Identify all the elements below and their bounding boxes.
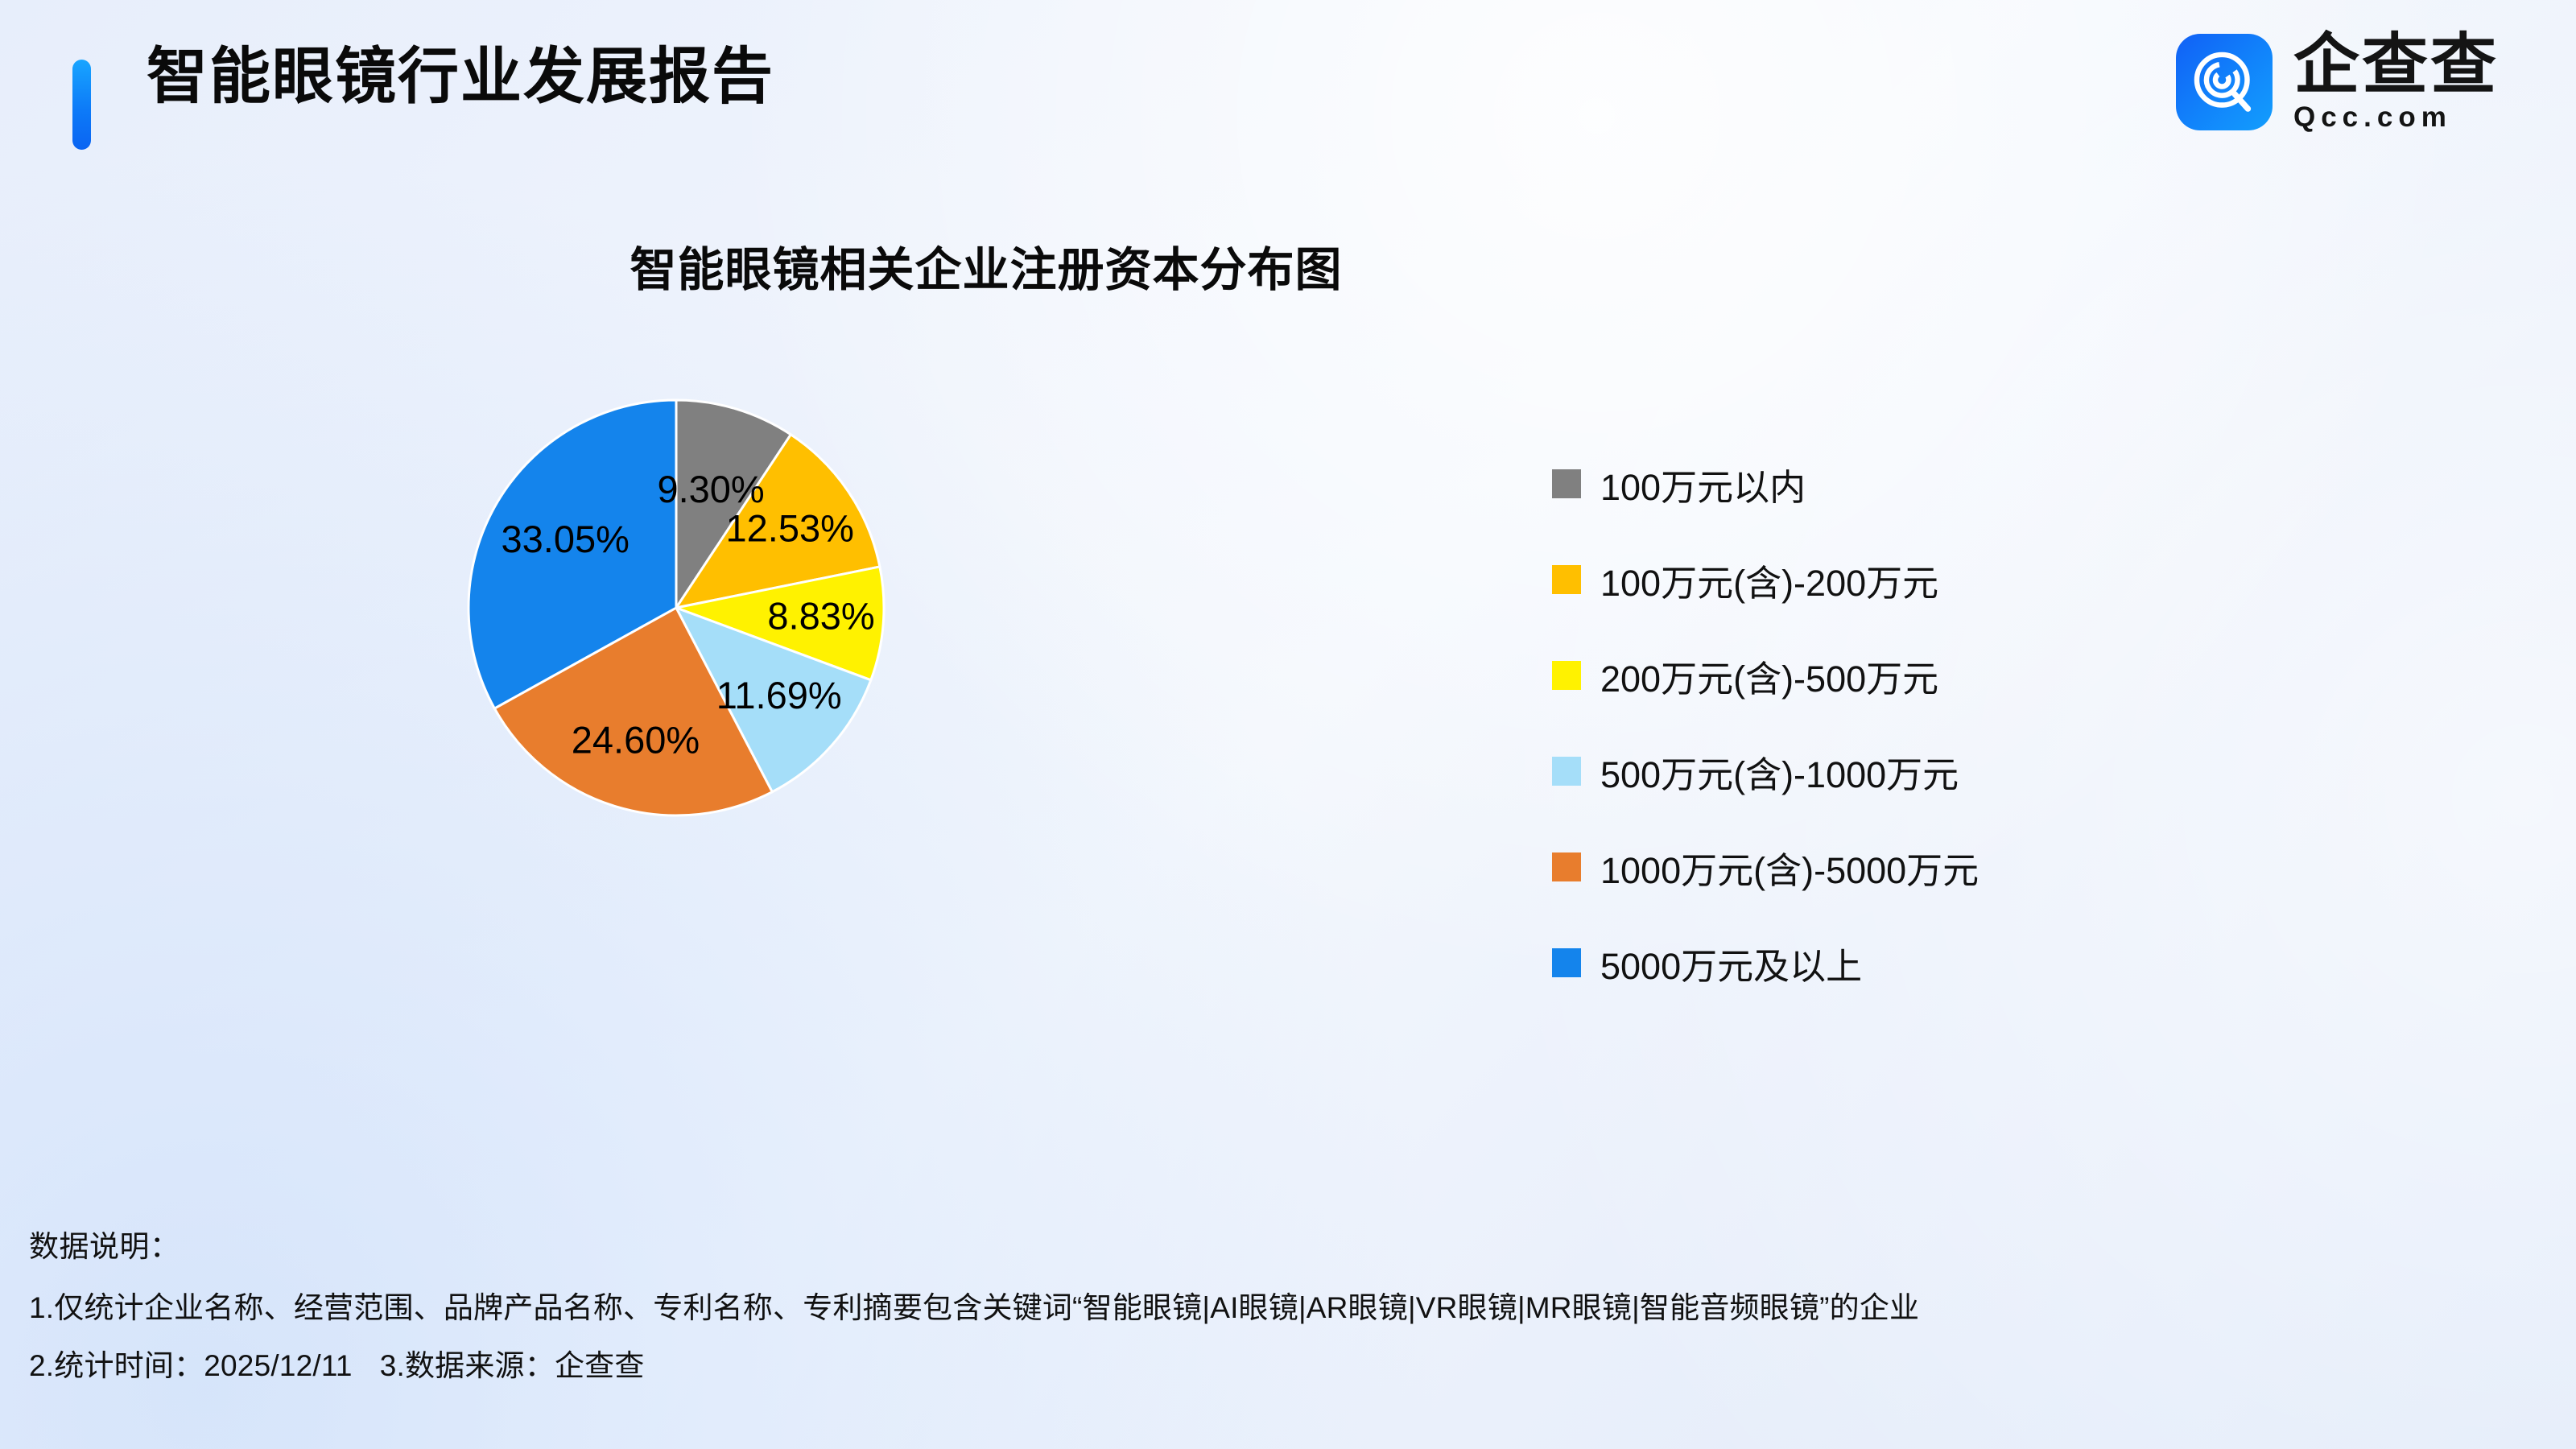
legend-label: 1000万元(含)-5000万元 <box>1600 841 1979 894</box>
legend-item[interactable]: 100万元以内 <box>1552 452 2438 515</box>
page-header: 智能眼镜行业发展报告 企查查 Qcc.com <box>0 0 2576 193</box>
chart-legend: 100万元以内100万元(含)-200万元200万元(含)-500万元500万元… <box>1552 452 2438 1027</box>
pie-slice-label: 12.53% <box>726 506 854 549</box>
brand-logo: 企查查 Qcc.com <box>2176 32 2499 131</box>
brand-name-cn: 企查查 <box>2293 32 2499 98</box>
legend-label: 500万元(含)-1000万元 <box>1600 745 1959 798</box>
pie-slice-label: 24.60% <box>572 718 700 761</box>
legend-item[interactable]: 1000万元(含)-5000万元 <box>1552 836 2438 898</box>
notes-line-1: 1.仅统计企业名称、经营范围、品牌产品名称、专利名称、专利摘要包含关键词“智能眼… <box>29 1283 2549 1327</box>
chart-title: 智能眼镜相关企业注册资本分布图 <box>0 232 1972 299</box>
pie-chart-svg: 9.30%12.53%8.83%11.69%24.60%33.05% <box>463 394 890 821</box>
brand-text: 企查查 Qcc.com <box>2293 32 2499 131</box>
legend-item[interactable]: 100万元(含)-200万元 <box>1552 548 2438 611</box>
qcc-logo-icon <box>2176 34 2273 130</box>
title-accent-bar <box>72 60 91 150</box>
notes-date: 2.统计时间：2025/12/11 <box>29 1349 353 1382</box>
legend-swatch-icon <box>1552 948 1581 977</box>
legend-label: 200万元(含)-500万元 <box>1600 650 1938 702</box>
pie-slice-label: 11.69% <box>716 674 842 716</box>
pie-slice-label: 9.30% <box>657 468 764 510</box>
legend-item[interactable]: 500万元(含)-1000万元 <box>1552 740 2438 803</box>
legend-swatch-icon <box>1552 757 1581 786</box>
legend-swatch-icon <box>1552 565 1581 594</box>
brand-name-en: Qcc.com <box>2293 103 2452 131</box>
legend-label: 5000万元及以上 <box>1600 937 1862 989</box>
legend-swatch-icon <box>1552 852 1581 881</box>
notes-line-2: 2.统计时间：2025/12/113.数据来源：企查查 <box>29 1341 2549 1385</box>
pie-chart: 9.30%12.53%8.83%11.69%24.60%33.05% <box>463 394 890 821</box>
data-notes: 数据说明： 1.仅统计企业名称、经营范围、品牌产品名称、专利名称、专利摘要包含关… <box>29 1222 2549 1399</box>
legend-item[interactable]: 200万元(含)-500万元 <box>1552 644 2438 707</box>
page-title: 智能眼镜行业发展报告 <box>147 39 774 115</box>
notes-source: 3.数据来源：企查查 <box>380 1349 645 1382</box>
legend-label: 100万元以内 <box>1600 458 1806 510</box>
notes-heading: 数据说明： <box>29 1222 2549 1265</box>
legend-swatch-icon <box>1552 469 1581 498</box>
pie-slice-label: 33.05% <box>501 518 629 560</box>
legend-label: 100万元(含)-200万元 <box>1600 554 1938 606</box>
legend-swatch-icon <box>1552 661 1581 690</box>
pie-slice-label: 8.83% <box>767 595 874 638</box>
legend-item[interactable]: 5000万元及以上 <box>1552 931 2438 994</box>
